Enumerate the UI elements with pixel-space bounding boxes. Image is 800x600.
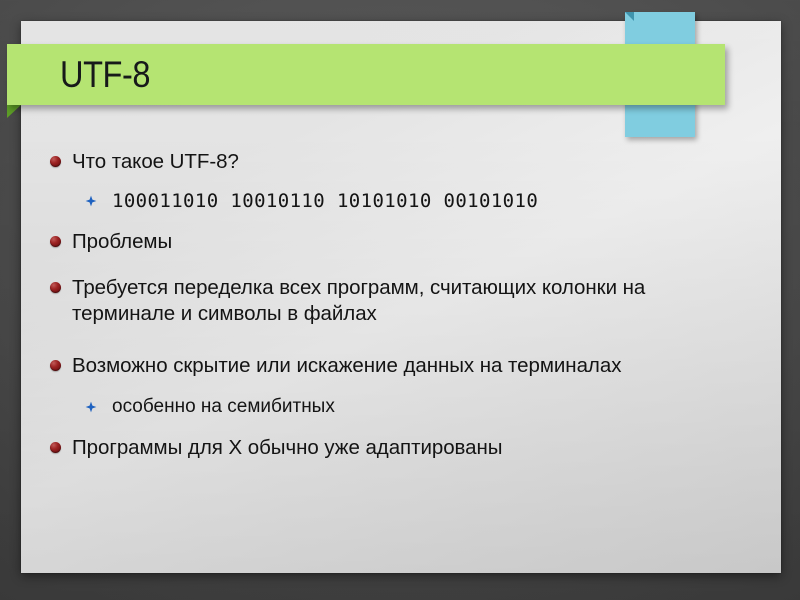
sub-bullet-item: особенно на семибитных: [21, 395, 781, 419]
slide-title: UTF-8: [60, 56, 150, 93]
red-sphere-bullet-icon: [50, 236, 61, 247]
red-sphere-bullet-icon: [50, 442, 61, 453]
bullet-text: Требуется переделка всех программ, счита…: [72, 275, 744, 327]
presentation-viewport: UTF-8 Что такое UTF-8? 100011010 1001011…: [0, 0, 800, 600]
slide-canvas: UTF-8 Что такое UTF-8? 100011010 1001011…: [21, 21, 781, 573]
title-banner: UTF-8: [7, 44, 725, 105]
bullet-item: Программы для X обычно уже адаптированы: [21, 435, 781, 461]
red-sphere-bullet-icon: [50, 360, 61, 371]
bullet-item: Требуется переделка всех программ, счита…: [21, 275, 781, 327]
sub-bullet-item: 100011010 10010110 10101010 00101010: [21, 189, 781, 213]
bullet-item: Проблемы: [21, 229, 781, 255]
bullet-text: Проблемы: [72, 229, 172, 255]
slide-body: Что такое UTF-8? 100011010 10010110 1010…: [21, 125, 781, 461]
blue-arrow-bullet-icon: [85, 400, 97, 416]
sub-bullet-text: 100011010 10010110 10101010 00101010: [112, 189, 538, 213]
sub-bullet-text: особенно на семибитных: [112, 395, 335, 419]
red-sphere-bullet-icon: [50, 156, 61, 167]
blue-arrow-bullet-icon: [85, 194, 97, 210]
bullet-item: Возможно скрытие или искажение данных на…: [21, 353, 781, 379]
blue-accent-bar-fold-icon: [625, 12, 634, 21]
title-banner-fold-icon: [7, 105, 21, 118]
bullet-item: Что такое UTF-8?: [21, 149, 781, 175]
bullet-text: Программы для X обычно уже адаптированы: [72, 435, 502, 461]
bullet-text: Возможно скрытие или искажение данных на…: [72, 353, 621, 379]
red-sphere-bullet-icon: [50, 282, 61, 293]
bullet-text: Что такое UTF-8?: [72, 149, 239, 175]
